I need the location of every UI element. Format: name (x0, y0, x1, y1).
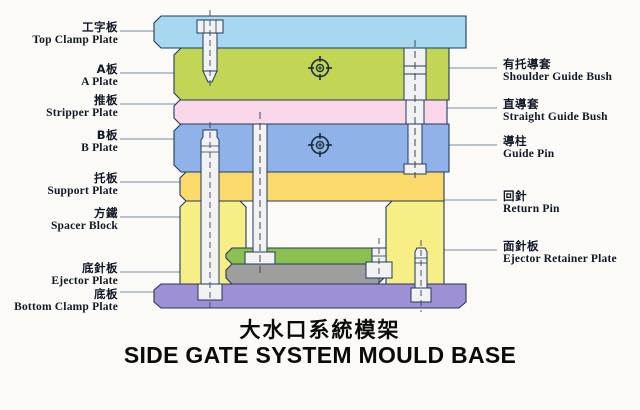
label-guide-pin-en: Guide Pin (503, 148, 554, 161)
label-top-clamp-plate-en: Top Clamp Plate (0, 34, 118, 47)
label-spacer-block-en: Spacer Block (0, 220, 118, 233)
label-b-plate: B板 B Plate (0, 129, 118, 155)
label-support-plate: 托板 Support Plate (0, 172, 118, 198)
diagram-title-en: SIDE GATE SYSTEM MOULD BASE (0, 342, 640, 369)
ejector-pin-long (198, 122, 222, 310)
label-b-plate-cn: B板 (0, 129, 118, 142)
label-guide-pin: 導柱 Guide Pin (503, 135, 554, 161)
diagram-title-cn: 大水口系統模架 (0, 318, 640, 342)
mould-base-diagram: 工字板 Top Clamp Plate A板 A Plate 推板 Stripp… (0, 0, 640, 410)
label-a-plate-en: A Plate (0, 76, 118, 89)
label-bottom-clamp-plate-cn: 底板 (0, 288, 118, 301)
label-straight-guide-bush-cn: 直導套 (503, 98, 608, 111)
label-shoulder-guide-bush-en: Shoulder Guide Bush (503, 71, 612, 84)
label-top-clamp-plate: 工字板 Top Clamp Plate (0, 21, 118, 47)
label-a-plate: A板 A Plate (0, 63, 118, 89)
label-ejector-retainer-plate: 面針板 Ejector Retainer Plate (503, 240, 617, 266)
label-straight-guide-bush-en: Straight Guide Bush (503, 111, 608, 124)
label-a-plate-cn: A板 (0, 63, 118, 76)
label-guide-pin-cn: 導柱 (503, 135, 554, 148)
plate-ejector (226, 264, 384, 284)
label-stripper-plate-en: Stripper Plate (0, 107, 118, 120)
label-stripper-plate: 推板 Stripper Plate (0, 94, 118, 120)
label-stripper-plate-cn: 推板 (0, 94, 118, 107)
label-return-pin: 回針 Return Pin (503, 190, 560, 216)
diagram-title: 大水口系統模架 SIDE GATE SYSTEM MOULD BASE (0, 318, 640, 369)
label-ejector-retainer-plate-en: Ejector Retainer Plate (503, 253, 617, 266)
label-shoulder-guide-bush: 有托導套 Shoulder Guide Bush (503, 58, 612, 84)
label-shoulder-guide-bush-cn: 有托導套 (503, 58, 612, 71)
label-ejector-plate: 底針板 Ejector Plate (0, 262, 118, 288)
label-straight-guide-bush: 直導套 Straight Guide Bush (503, 98, 608, 124)
label-spacer-block-cn: 方鐵 (0, 207, 118, 220)
label-return-pin-en: Return Pin (503, 203, 560, 216)
plate-support (180, 172, 444, 201)
label-return-pin-cn: 回針 (503, 190, 560, 203)
label-b-plate-en: B Plate (0, 142, 118, 155)
label-ejector-plate-cn: 底針板 (0, 262, 118, 275)
label-top-clamp-plate-cn: 工字板 (0, 21, 118, 34)
label-support-plate-en: Support Plate (0, 185, 118, 198)
label-bottom-clamp-plate: 底板 Bottom Clamp Plate (0, 288, 118, 314)
label-bottom-clamp-plate-en: Bottom Clamp Plate (0, 301, 118, 314)
label-ejector-retainer-plate-cn: 面針板 (503, 240, 617, 253)
label-support-plate-cn: 托板 (0, 172, 118, 185)
label-spacer-block: 方鐵 Spacer Block (0, 207, 118, 233)
